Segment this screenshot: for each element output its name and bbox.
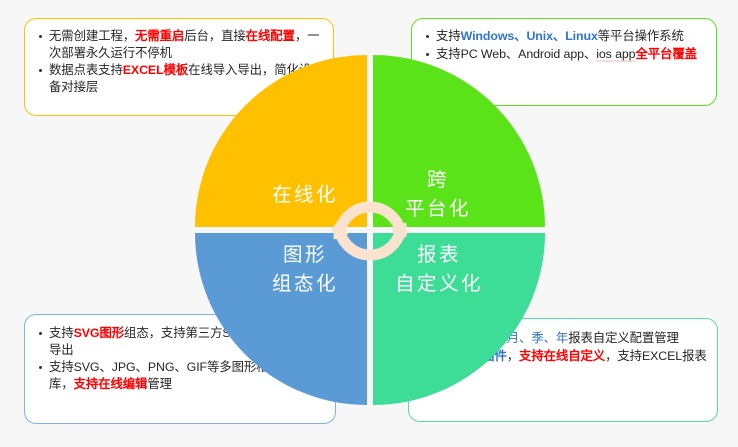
diagram-canvas: 无需创建工程，无需重启后台，直接在线配置，一次部署永久运行不停机 数据点表支持E… — [0, 0, 738, 447]
text-segment: SVG图形 — [74, 326, 124, 340]
text-segment: 支持 — [49, 326, 74, 340]
quadrant-report-custom-fill — [373, 233, 545, 405]
quadrant-online[interactable] — [195, 55, 367, 227]
text-segment: 报表自定义配置管理 — [568, 331, 679, 345]
list-item: 支持Windows、Unix、Linux等平台操作系统 — [423, 28, 706, 45]
quadrant-graphic-config[interactable] — [195, 233, 367, 405]
text-segment: 全平台覆盖 — [635, 47, 696, 61]
text-segment: 无需重启 — [135, 29, 184, 43]
text-segment: 等平台操作系统 — [598, 29, 684, 43]
quadrant-report-custom[interactable] — [373, 233, 545, 405]
text-segment: Windows、Unix、Linux — [461, 29, 598, 43]
text-segment: EXCEL模板 — [123, 63, 188, 77]
quadrant-online-fill — [195, 55, 367, 227]
quadrant-circle-diagram: 在线化 跨 平台化 图形 组态化 报表 自定义化 — [195, 55, 545, 405]
text-segment: 数据点表支持 — [49, 63, 123, 77]
quadrant-cross-platform-fill — [373, 55, 545, 227]
text-segment: 在线配置 — [246, 29, 295, 43]
text-segment: 管理 — [147, 377, 172, 391]
quadrant-cross-platform[interactable] — [373, 55, 545, 227]
text-segment: 后台，直接 — [184, 29, 245, 43]
text-segment: 支持在线编辑 — [74, 377, 148, 391]
text-segment: ios app — [596, 47, 635, 62]
text-segment: 支持 — [436, 29, 461, 43]
text-segment: 无需创建工程， — [49, 29, 135, 43]
quadrant-graphic-config-fill — [195, 233, 367, 405]
